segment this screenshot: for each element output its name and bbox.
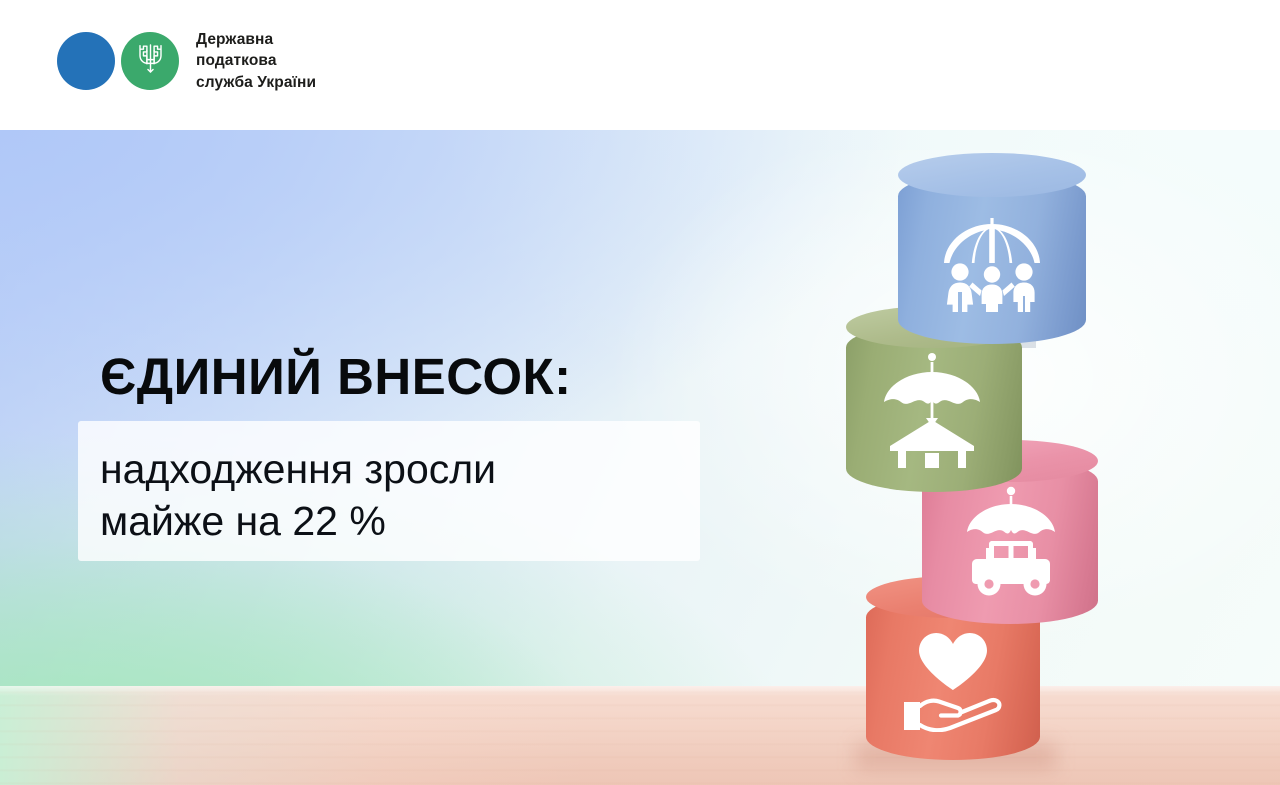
blue-circle-icon	[57, 32, 115, 90]
logo-line-2: податкова	[196, 50, 316, 71]
poster-canvas: ЄДИНИЙ ВНЕСОК: надходження зросли майже …	[0, 0, 1280, 785]
green-circle-icon	[121, 32, 179, 90]
car-under-umbrella-icon	[958, 486, 1064, 598]
home-insurance-block	[846, 324, 1022, 492]
organization-logo[interactable]: Державна податкова служба України	[57, 29, 316, 93]
heart-in-hand-icon	[896, 628, 1010, 732]
subtitle-line-2: майже на 22 %	[100, 495, 684, 547]
family-insurance-block	[898, 172, 1086, 344]
subtitle-text: надходження зросли майже на 22 %	[100, 443, 684, 548]
ukrainian-trident-icon	[137, 41, 164, 81]
subtitle-line-1: надходження зросли	[100, 443, 684, 495]
house-under-umbrella-icon	[876, 352, 988, 468]
organization-name: Державна податкова служба України	[196, 29, 316, 93]
family-under-umbrella-icon	[936, 208, 1048, 312]
logo-line-1: Державна	[196, 29, 316, 50]
blue-cylinder-top	[898, 153, 1086, 197]
logo-line-3: служба України	[196, 72, 316, 93]
subtitle-panel: надходження зросли майже на 22 %	[78, 421, 700, 561]
header-bar: Державна податкова служба України	[0, 0, 1280, 130]
page-title: ЄДИНИЙ ВНЕСОК:	[100, 350, 572, 404]
